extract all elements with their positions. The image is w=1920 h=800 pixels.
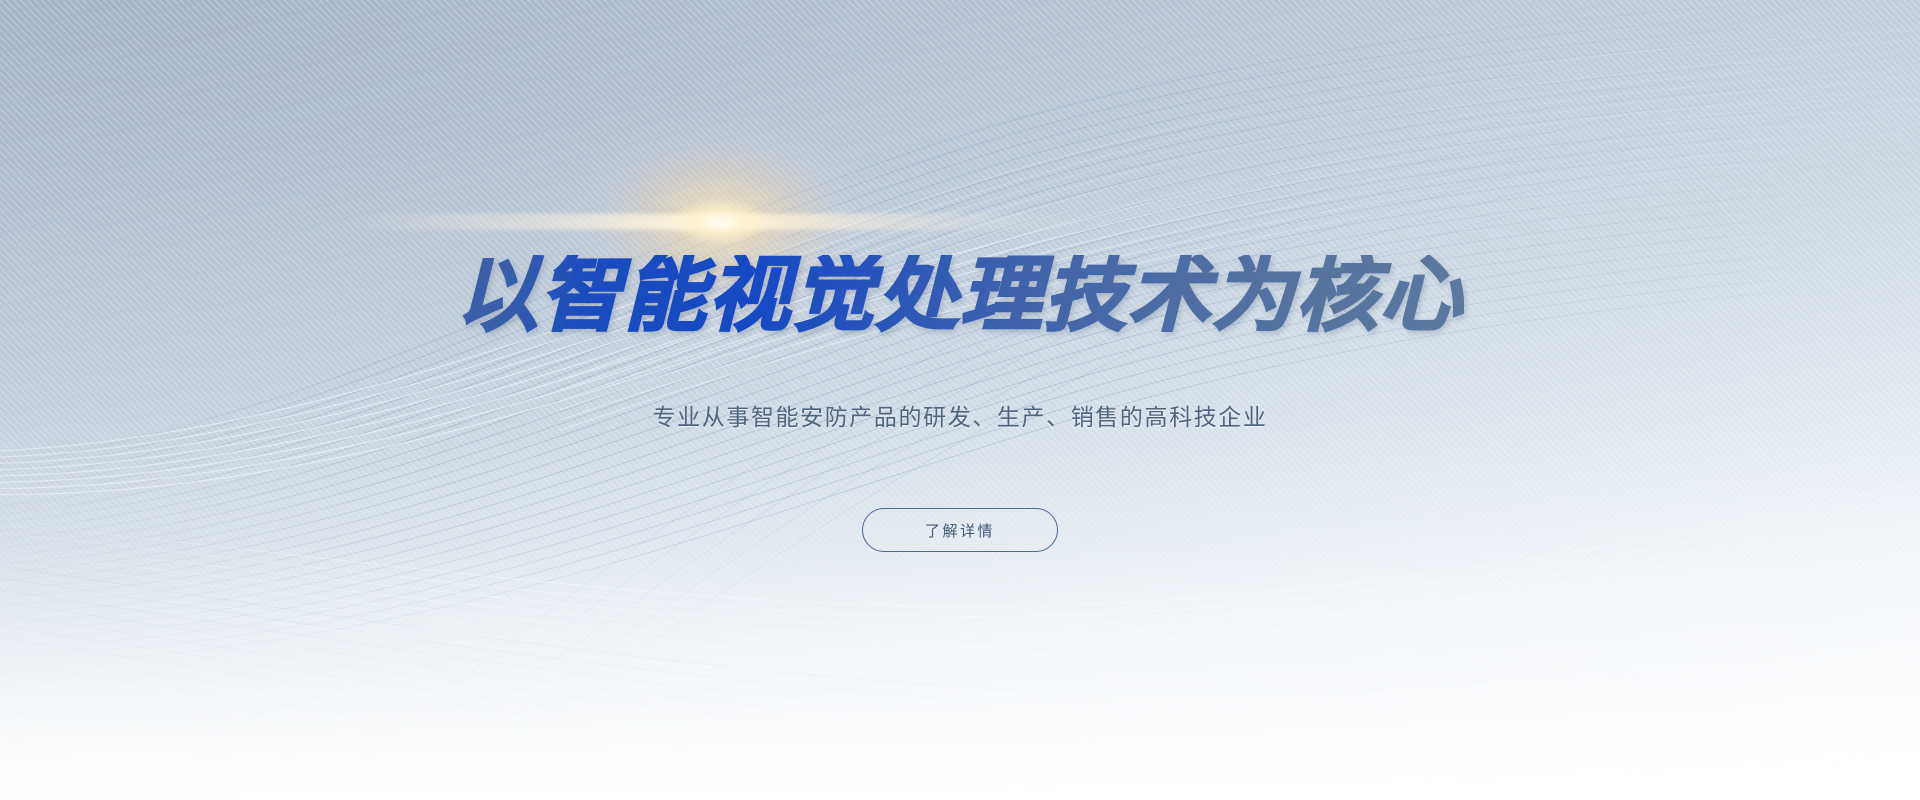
hero-banner: 以智能视觉处理技术为核心 专业从事智能安防产品的研发、生产、销售的高科技企业 了…	[0, 0, 1920, 800]
page-title: 以智能视觉处理技术为核心	[456, 255, 1464, 337]
hero-content: 以智能视觉处理技术为核心 专业从事智能安防产品的研发、生产、销售的高科技企业 了…	[0, 0, 1920, 800]
hero-subtitle: 专业从事智能安防产品的研发、生产、销售的高科技企业	[653, 401, 1268, 433]
learn-more-button[interactable]: 了解详情	[862, 508, 1058, 552]
